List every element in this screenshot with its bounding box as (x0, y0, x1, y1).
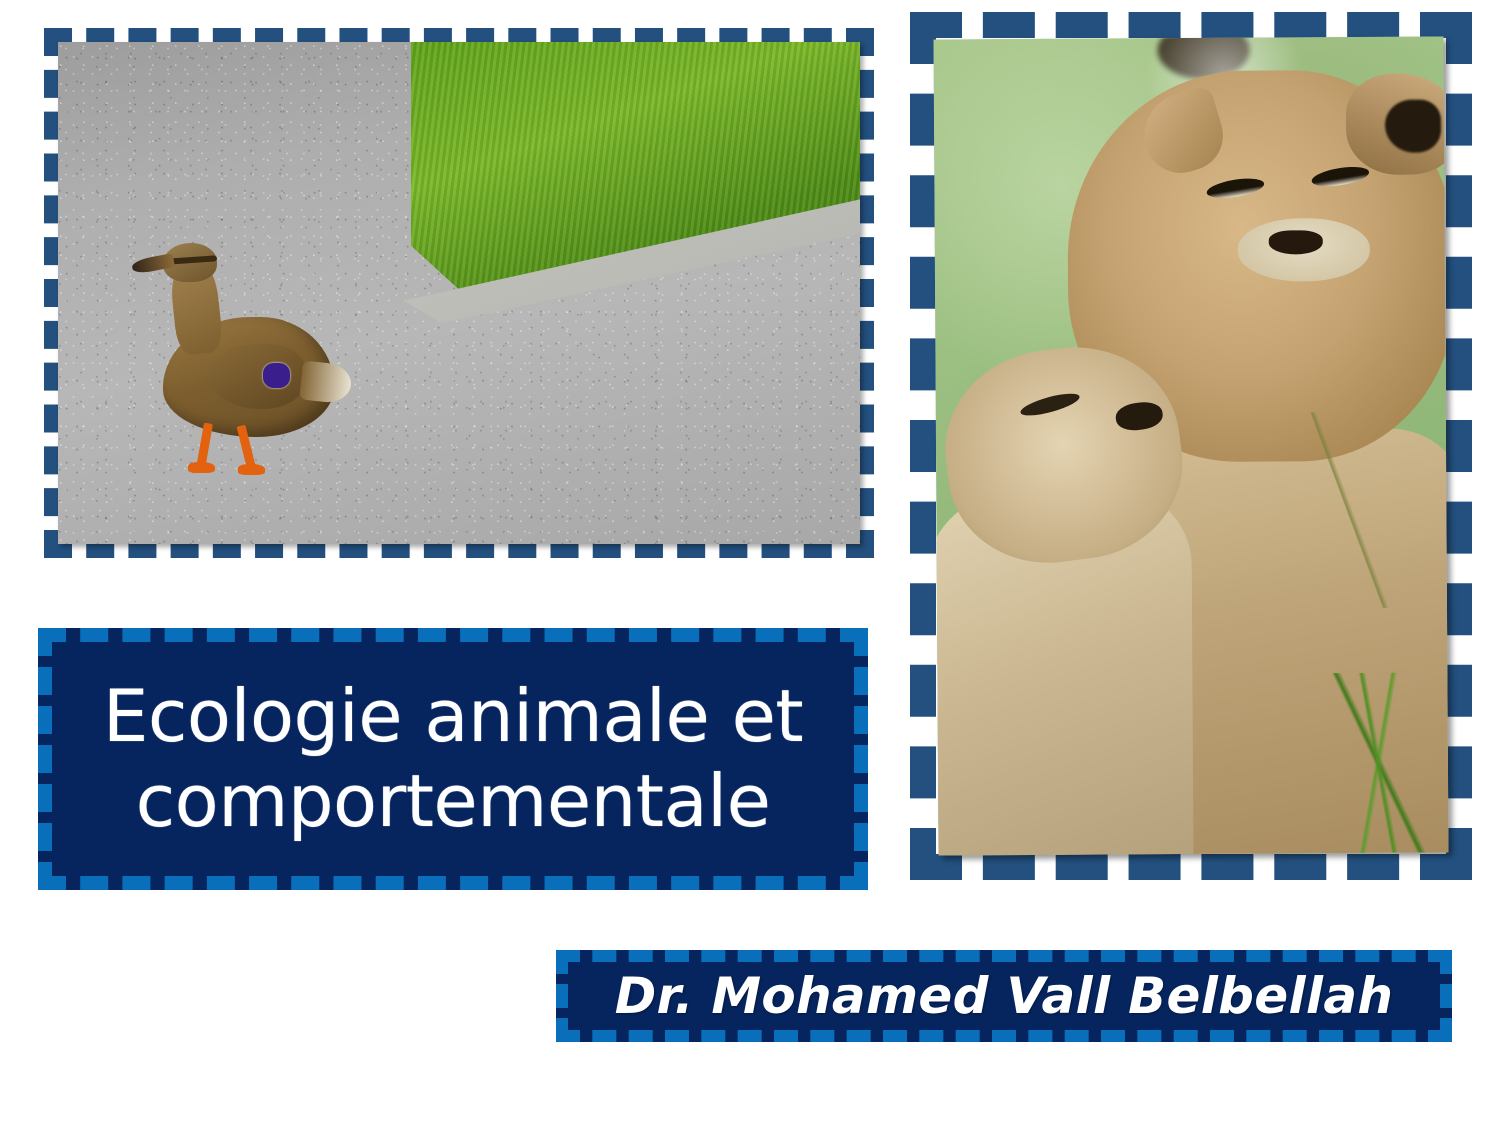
lioness-and-cub-image-frame[interactable] (910, 12, 1472, 880)
duckling (463, 351, 529, 454)
lion-scene (934, 36, 1449, 855)
slide-canvas: Ecologie animale et comportementale Dr. … (0, 0, 1500, 1125)
duckling (619, 376, 683, 471)
mother-duck-tail (299, 360, 353, 404)
duck-scene (58, 42, 860, 544)
author-callout-box[interactable]: Dr. Mohamed Vall Belbellah (556, 950, 1452, 1042)
grass-tuft (1325, 673, 1438, 853)
duckling (820, 356, 860, 456)
page-title: Ecologie animale et comportementale (103, 674, 803, 844)
lioness-left-eye (1206, 175, 1266, 201)
mother-duck (146, 243, 355, 474)
title-callout-box[interactable]: Ecologie animale et comportementale (38, 628, 868, 890)
lioness-right-eye (1310, 163, 1370, 189)
grass-stem (1303, 412, 1396, 608)
author-name: Dr. Mohamed Vall Belbellah (615, 967, 1394, 1025)
lioness-and-cub-photo (934, 36, 1449, 855)
mother-duck-foot (188, 462, 215, 472)
duck-family-image-frame[interactable] (44, 28, 874, 558)
duck-family-photo (58, 42, 860, 544)
mother-duck-speculum (263, 363, 290, 388)
lioness-nose (1269, 230, 1323, 254)
lioness-right-ear (1345, 73, 1448, 176)
cub-nose (1114, 400, 1164, 433)
mother-duck-foot (238, 464, 265, 474)
lioness-left-ear (1135, 85, 1231, 182)
cub-eye (1019, 389, 1082, 419)
